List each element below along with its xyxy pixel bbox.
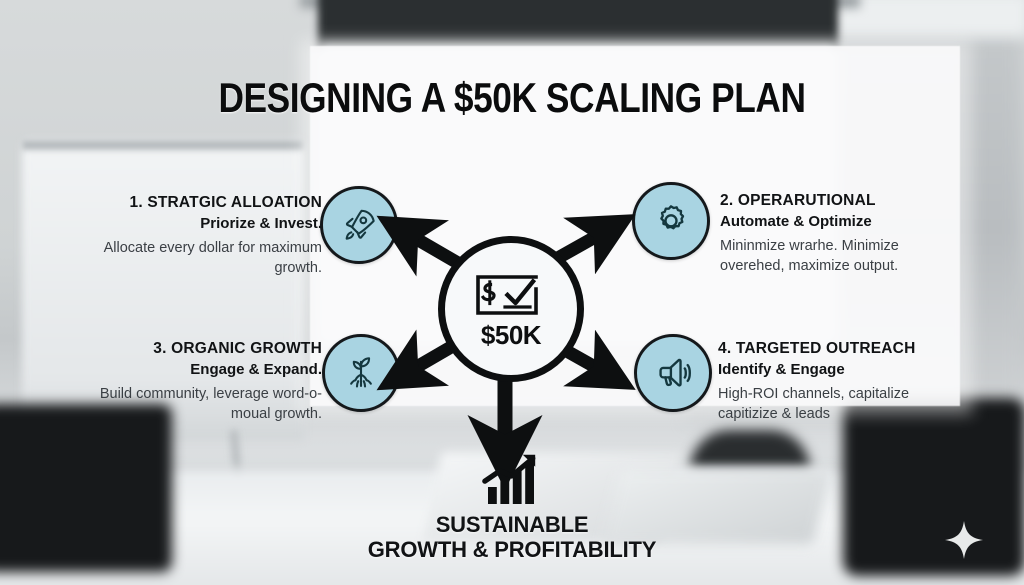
- seedling-icon: [340, 352, 382, 394]
- pillar-4-heading: 4. TARGETED OUTREACH: [718, 340, 968, 359]
- center-budget-amount: $50K: [481, 320, 541, 351]
- pillar-1-heading: 1. STRATGIC ALLOATION: [86, 194, 322, 213]
- content-layer: DESIGNING A $50K SCALING PLAN 1. STRATGI…: [0, 0, 1024, 585]
- pillar-1-text: 1. STRATGIC ALLOATION Priorize & Invest.…: [86, 194, 322, 278]
- outcome-label: SUSTAINABLE GROWTH & PROFITABILITY: [362, 512, 662, 562]
- growth-bar-chart-icon: [478, 452, 546, 508]
- pillar-2-body: Mininmize wrarhe. Minimize overehed, max…: [720, 237, 966, 276]
- pillar-4-icon-circle: [634, 334, 712, 412]
- pillar-4-text: 4. TARGETED OUTREACH Identify & Engage H…: [718, 340, 968, 424]
- pillar-3-icon-circle: [322, 334, 400, 412]
- pillar-1-subtitle: Priorize & Invest.: [86, 215, 322, 233]
- pillar-1-body: Allocate every dollar for maximum growth…: [86, 239, 322, 278]
- gear-icon: [651, 201, 691, 241]
- pillar-3-body: Build community, leverage word-o-moual g…: [86, 385, 322, 424]
- center-budget-hub: $50K: [438, 236, 584, 382]
- megaphone-icon: [652, 352, 694, 394]
- pillar-2-heading: 2. OPERARUTIONAL: [720, 192, 966, 211]
- pillar-4-subtitle: Identify & Engage: [718, 361, 968, 379]
- pillar-2-text: 2. OPERARUTIONAL Automate & Optimize Min…: [720, 192, 966, 276]
- rocket-icon: [339, 205, 379, 245]
- money-check-icon: [474, 271, 548, 319]
- pillar-3-text: 3. ORGANIC GROWTH Engage & Expand. Build…: [86, 340, 322, 424]
- sparkle-icon: [940, 516, 988, 564]
- infographic-slide: DESIGNING A $50K SCALING PLAN 1. STRATGI…: [0, 0, 1024, 585]
- outcome-line-1: SUSTAINABLE: [362, 512, 662, 537]
- page-title: DESIGNING A $50K SCALING PLAN: [82, 74, 942, 122]
- outcome-block: SUSTAINABLE GROWTH & PROFITABILITY: [362, 452, 662, 562]
- pillar-3-subtitle: Engage & Expand.: [86, 361, 322, 379]
- pillar-3-heading: 3. ORGANIC GROWTH: [86, 340, 322, 359]
- pillar-4-body: High-ROI channels, capitalize capitizize…: [718, 385, 968, 424]
- outcome-line-2: GROWTH & PROFITABILITY: [362, 537, 662, 562]
- pillar-2-icon-circle: [632, 182, 710, 260]
- pillar-2-subtitle: Automate & Optimize: [720, 213, 966, 231]
- pillar-1-icon-circle: [320, 186, 398, 264]
